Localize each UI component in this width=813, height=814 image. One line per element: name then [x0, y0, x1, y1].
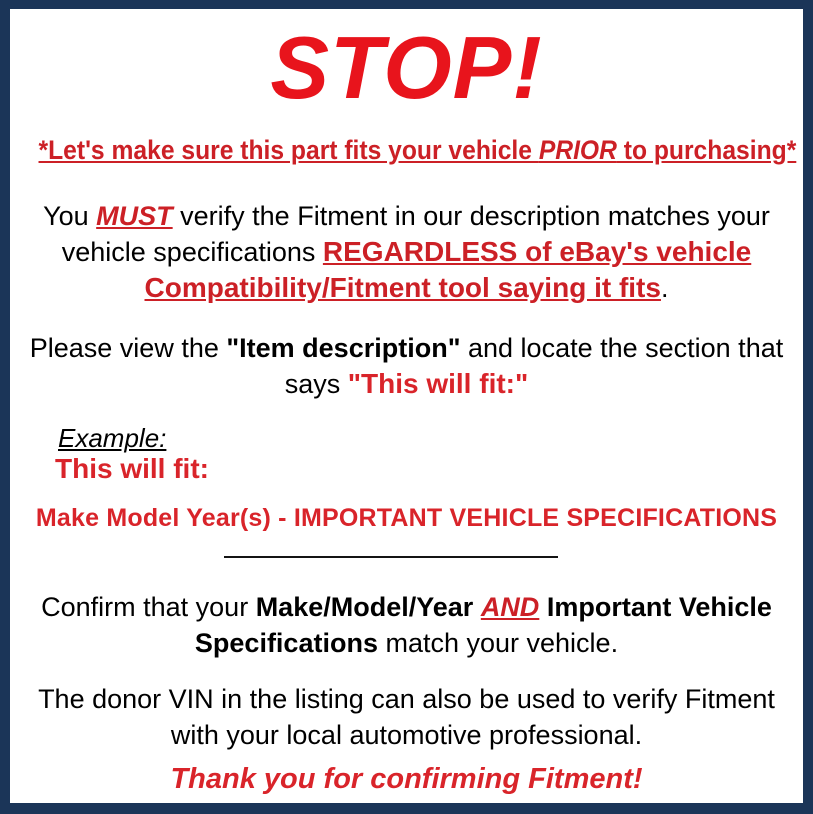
p3-seg2: match your vehicle. — [378, 628, 618, 658]
stop-headline: STOP! — [270, 20, 542, 116]
stop-headline-container: STOP! — [10, 20, 803, 116]
p1-seg1: You — [43, 201, 96, 231]
p1-seg3: . — [661, 273, 669, 303]
example-fit-header: This will fit: — [55, 453, 209, 485]
p3-make-model-year: Make/Model/Year — [256, 592, 474, 622]
p1-must-emphasis: MUST — [96, 201, 173, 231]
tagline-emphasis: PRIOR — [539, 135, 617, 165]
p2-item-description-quote: "Item description" — [226, 333, 460, 363]
paragraph-item-description: Please view the "Item description" and l… — [24, 330, 789, 402]
section-divider — [224, 556, 558, 558]
p3-space-b — [539, 592, 547, 622]
p2-this-will-fit-quote: "This will fit:" — [348, 368, 529, 399]
tagline-suffix: to purchasing* — [617, 135, 796, 165]
paragraph-must-verify: You MUST verify the Fitment in our descr… — [28, 199, 785, 306]
example-spec-line: Make Model Year(s) - IMPORTANT VEHICLE S… — [10, 503, 803, 533]
p2-seg1: Please view the — [30, 333, 227, 363]
closing-thank-you: Thank you for confirming Fitment! — [10, 761, 803, 797]
tagline-prefix: *Let's make sure this part fits your veh… — [39, 135, 539, 165]
p3-and-emphasis: AND — [481, 592, 540, 622]
tagline: *Let's make sure this part fits your veh… — [39, 134, 797, 166]
paragraph-confirm-match: Confirm that your Make/Model/Year AND Im… — [26, 589, 787, 661]
example-label: Example: — [58, 423, 166, 453]
p3-seg1: Confirm that your — [41, 592, 256, 622]
fitment-warning-banner: STOP! *Let's make sure this part fits yo… — [0, 0, 813, 814]
paragraph-donor-vin: The donor VIN in the listing can also be… — [24, 681, 789, 753]
p3-space-a — [473, 592, 481, 622]
banner-inner-surface: STOP! *Let's make sure this part fits yo… — [10, 9, 803, 803]
tagline-container: *Let's make sure this part fits your veh… — [10, 134, 803, 166]
